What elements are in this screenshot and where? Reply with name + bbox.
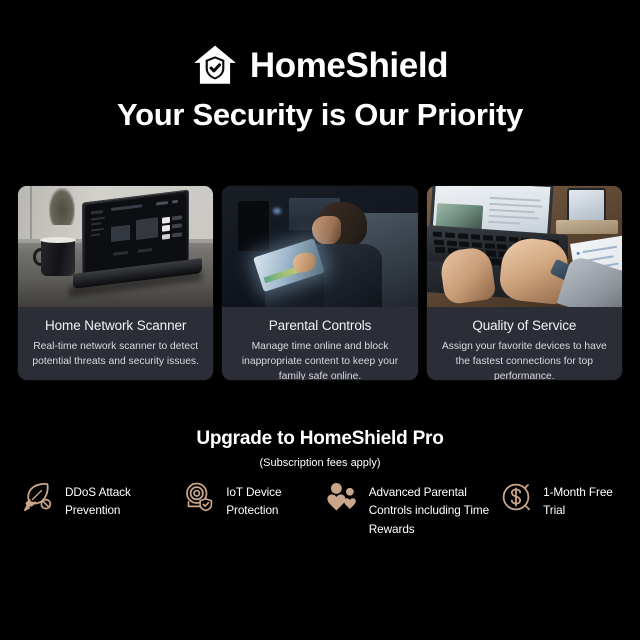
feature-label: DDoS Attack Prevention — [65, 481, 181, 520]
card-description: Assign your favorite devices to have the… — [435, 340, 614, 380]
card-description: Real-time network scanner to detect pote… — [26, 340, 205, 370]
brand-row: HomeShield — [0, 40, 640, 90]
pro-features-list: DDoS Attack Prevention IoT Device Protec… — [20, 481, 620, 538]
feature-label: 1-Month Free Trial — [543, 481, 620, 520]
house-shield-check-icon — [192, 42, 238, 88]
upgrade-subtitle: (Subscription fees apply) — [0, 457, 640, 469]
card-description: Manage time online and block inappropria… — [230, 340, 409, 380]
feature-advanced-parental-controls: Advanced Parental Controls including Tim… — [324, 481, 498, 538]
card-title: Home Network Scanner — [26, 318, 205, 333]
card-photo-parental-controls — [222, 186, 417, 307]
page-tagline: Your Security is Our Priority — [0, 97, 640, 133]
card-quality-of-service[interactable]: Quality of Service Assign your favorite … — [427, 186, 622, 380]
dollar-coin-icon — [498, 479, 534, 515]
card-photo-quality-of-service — [427, 186, 622, 307]
card-title: Parental Controls — [230, 318, 409, 333]
page-header: HomeShield Your Security is Our Priority — [0, 0, 640, 133]
card-photo-home-network-scanner — [18, 186, 213, 307]
rocket-blocked-icon — [20, 479, 56, 515]
card-body-parental-controls: Parental Controls Manage time online and… — [222, 307, 417, 380]
feature-iot-device-protection: IoT Device Protection — [181, 481, 324, 520]
card-home-network-scanner[interactable]: Home Network Scanner Real-time network s… — [18, 186, 213, 380]
feature-label: IoT Device Protection — [226, 481, 324, 520]
feature-ddos-attack-prevention: DDoS Attack Prevention — [20, 481, 181, 520]
card-parental-controls[interactable]: Parental Controls Manage time online and… — [222, 186, 417, 380]
card-title: Quality of Service — [435, 318, 614, 333]
feature-one-month-free-trial: 1-Month Free Trial — [498, 481, 620, 520]
brand-name: HomeShield — [250, 48, 448, 83]
feature-cards: Home Network Scanner Real-time network s… — [18, 186, 622, 380]
upgrade-title: Upgrade to HomeShield Pro — [0, 428, 640, 450]
upgrade-section: Upgrade to HomeShield Pro (Subscription … — [0, 428, 640, 469]
card-body-home-network-scanner: Home Network Scanner Real-time network s… — [18, 307, 213, 380]
card-body-quality-of-service: Quality of Service Assign your favorite … — [427, 307, 622, 380]
feature-label: Advanced Parental Controls including Tim… — [369, 481, 498, 538]
webcam-shield-check-icon — [181, 479, 217, 515]
parent-and-child-icon — [324, 479, 360, 515]
